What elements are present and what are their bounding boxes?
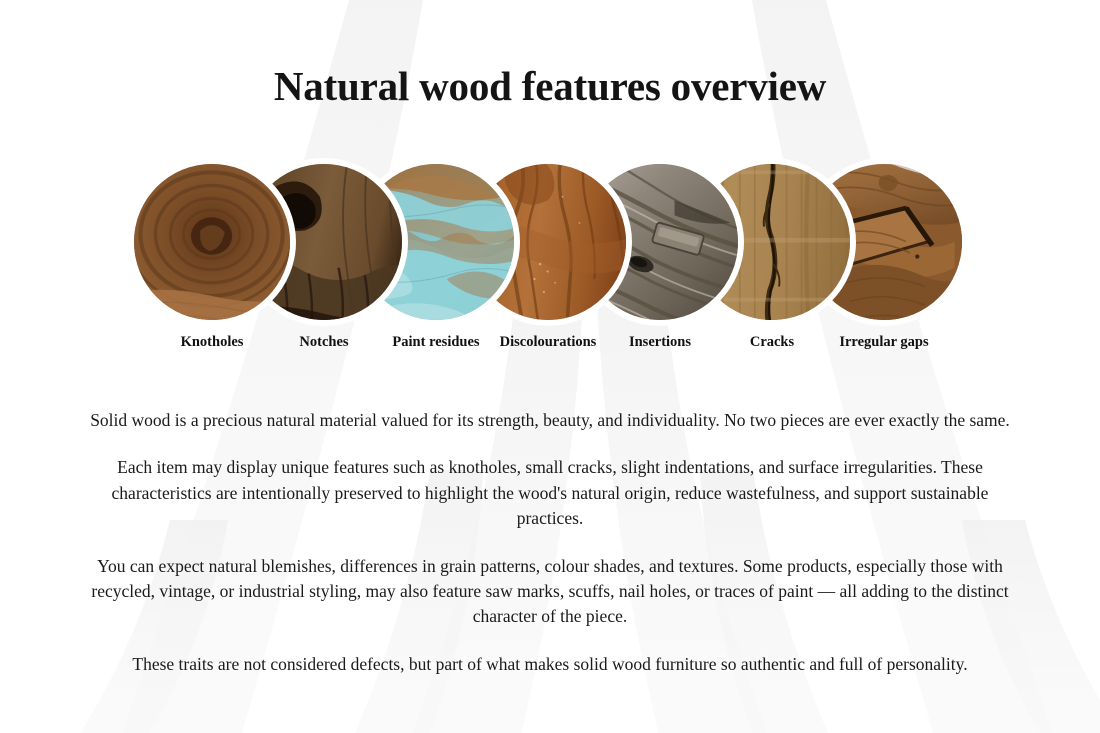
feature-image-knotholes (134, 164, 290, 320)
feature-strip: Knotholes (0, 164, 1100, 364)
page-root: Natural wood features overview (0, 0, 1100, 733)
page-title: Natural wood features overview (0, 62, 1100, 110)
body-paragraph-1: Solid wood is a precious natural materia… (50, 408, 1050, 433)
body-paragraph-4: These traits are not considered defects,… (50, 652, 1050, 677)
body-paragraph-2: Each item may display unique features su… (100, 455, 1000, 531)
body-paragraph-3: You can expect natural blemishes, differ… (90, 554, 1010, 630)
feature-item-knotholes[interactable]: Knotholes (134, 164, 290, 320)
feature-label-knotholes: Knotholes (112, 334, 312, 351)
body-copy: Solid wood is a precious natural materia… (50, 408, 1050, 677)
wood-texture-knotholes (134, 164, 290, 320)
